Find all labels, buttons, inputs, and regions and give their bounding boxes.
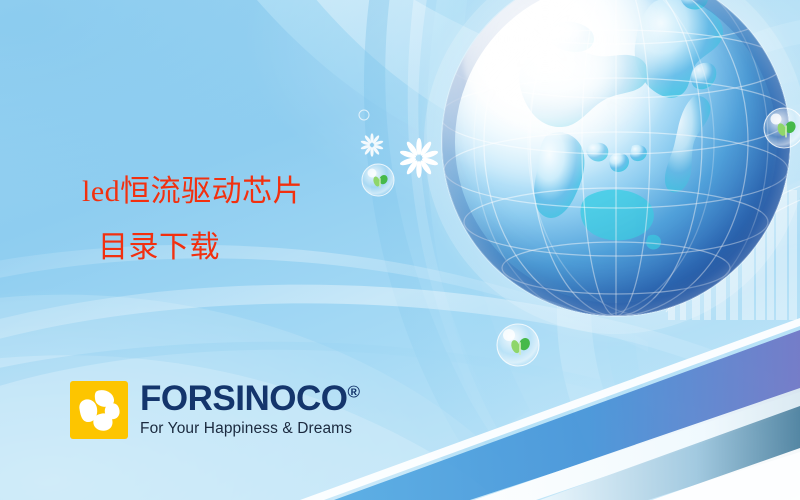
logo-name-text: FORSINOCO — [140, 379, 347, 418]
registered-trademark-icon: ® — [347, 382, 359, 401]
headline-line-2: 目录下载 — [82, 220, 462, 276]
logo-wordmark: FORSINOCO® — [140, 382, 359, 416]
promo-banner: led恒流驱动芯片 目录下载 FORSINOCO® For Your Happ — [0, 0, 800, 500]
logo-tagline: For Your Happiness & Dreams — [140, 419, 359, 438]
brand-logo: FORSINOCO® For Your Happiness & Dreams — [70, 381, 359, 439]
flower-petal-icon — [70, 381, 128, 439]
headline-line-1: led恒流驱动芯片 — [82, 164, 462, 220]
headline: led恒流驱动芯片 目录下载 — [82, 164, 462, 276]
